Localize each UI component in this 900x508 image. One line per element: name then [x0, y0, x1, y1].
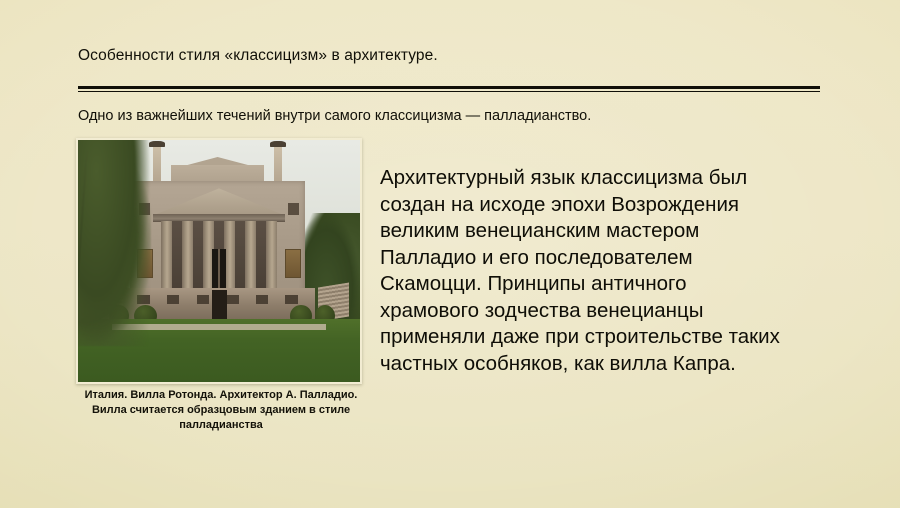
photo-caption: Италия. Вилла Ротонда. Архитектор А. Пал…	[76, 388, 366, 433]
presentation-slide: Особенности стиля «классицизм» в архитек…	[0, 0, 900, 508]
photo-basement-window	[167, 295, 179, 304]
photo-basement-window	[256, 295, 268, 304]
body-line: великим венецианским мастером	[380, 218, 850, 245]
photo-column	[266, 221, 276, 289]
body-line: применяли даже при строительстве таких	[380, 324, 850, 351]
body-line: частных особняков, как вилла Капра.	[380, 351, 850, 378]
villa-photo-frame	[76, 138, 362, 384]
villa-rotonda-photo	[78, 140, 360, 382]
photo-basement-window	[197, 295, 209, 304]
photo-caption-line: Италия. Вилла Ротонда. Архитектор А. Пал…	[85, 389, 358, 401]
body-line: Архитектурный язык классицизма был	[380, 165, 850, 192]
body-line: создан на исходе эпохи Возрождения	[380, 192, 850, 219]
photo-caption-line: палладианства	[179, 419, 263, 431]
photo-basement-window	[226, 295, 238, 304]
slide-subtitle: Одно из важнейших течений внутри самого …	[78, 108, 591, 124]
photo-column	[245, 221, 255, 289]
body-line: Скамоцци. Принципы античного	[380, 271, 850, 298]
photo-column	[161, 221, 171, 289]
photo-shuttered-window-right	[285, 249, 301, 278]
slide-body-text: Архитектурный язык классицизма был созда…	[380, 165, 850, 377]
photo-chimney-right	[274, 146, 282, 185]
photo-column	[182, 221, 192, 289]
slide-title: Особенности стиля «классицизм» в архитек…	[78, 47, 438, 65]
photo-caption-line: Вилла считается образцовым здaнием в сти…	[92, 404, 350, 416]
photo-upper-window-right	[288, 203, 299, 215]
divider-rule-thin	[78, 91, 820, 92]
body-line: Палладио и его последователем	[380, 245, 850, 272]
photo-basement-window	[285, 295, 297, 304]
photo-portico-doorway	[212, 249, 226, 288]
title-divider	[78, 86, 820, 92]
photo-chimney-left	[153, 146, 161, 185]
body-line: храмового зодчества венецианцы	[380, 298, 850, 325]
photo-willow-tree	[78, 140, 151, 346]
